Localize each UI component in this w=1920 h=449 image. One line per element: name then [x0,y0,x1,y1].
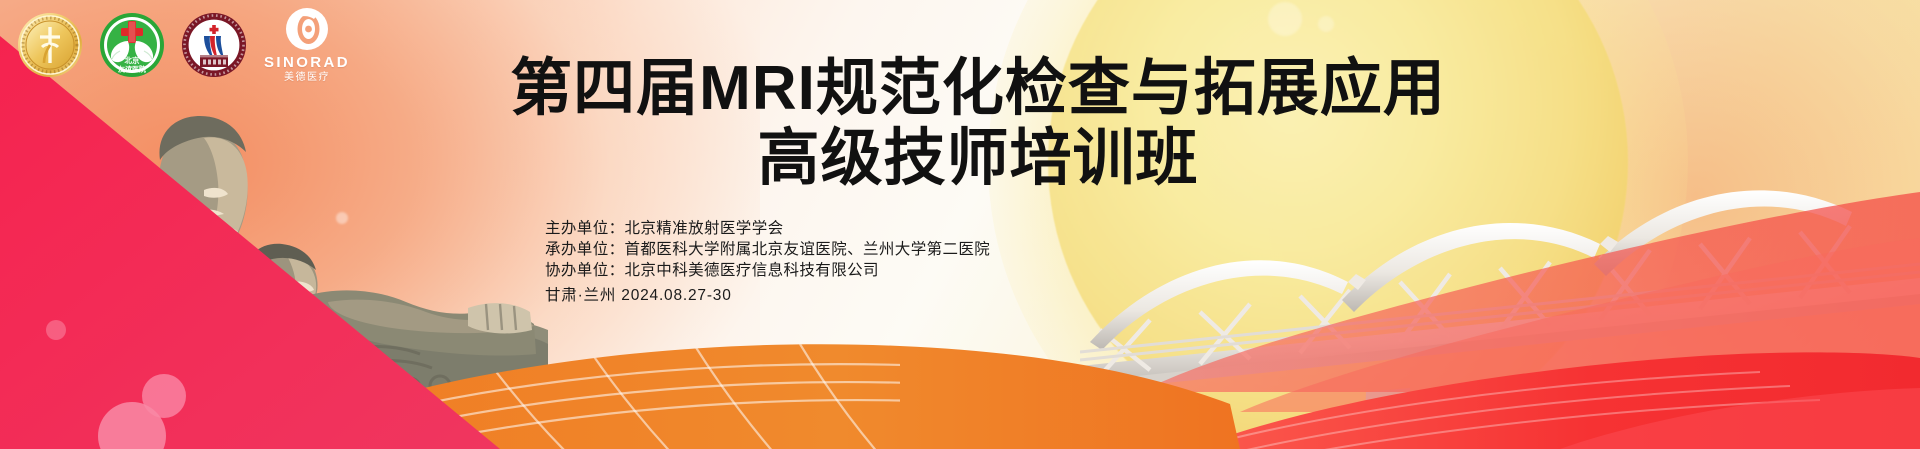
svg-text:友谊医院: 友谊医院 [117,64,146,73]
sinorad-subtitle: 美德医疗 [284,73,330,83]
sinorad-logo: SINORAD 美德医疗 [264,6,350,83]
svg-text:北京: 北京 [125,55,140,65]
event-location-date: 甘肃·兰州 2024.08.27-30 [545,285,990,306]
organizer-line-host: 主办单位：北京精准放射医学学会 [545,218,990,239]
organizer-line-coorganizer: 协办单位：北京中科美德医疗信息科技有限公司 [545,260,990,281]
yellow-river-mother-statue [28,86,548,416]
gold-medallion-logo [16,11,84,79]
organizer-line-organizer: 承办单位：首都医科大学附属北京友谊医院、兰州大学第二医院 [545,239,990,260]
zhongshan-bridge [1080,170,1920,449]
organizer-info: 主办单位：北京精准放射医学学会 承办单位：首都医科大学附属北京友谊医院、兰州大学… [545,218,990,306]
sinorad-wordmark: SINORAD [264,55,350,70]
bokeh-circle [1268,2,1302,36]
logo-row: 北京 友谊医院 [16,6,350,83]
beijing-friendship-hospital-logo: 北京 友谊医院 [98,11,166,79]
sinorad-mark-icon [284,6,330,52]
lanzhou-university-second-hospital-logo [180,11,248,79]
bokeh-circle [1318,16,1334,32]
conference-banner: 北京 友谊医院 [0,0,1920,449]
